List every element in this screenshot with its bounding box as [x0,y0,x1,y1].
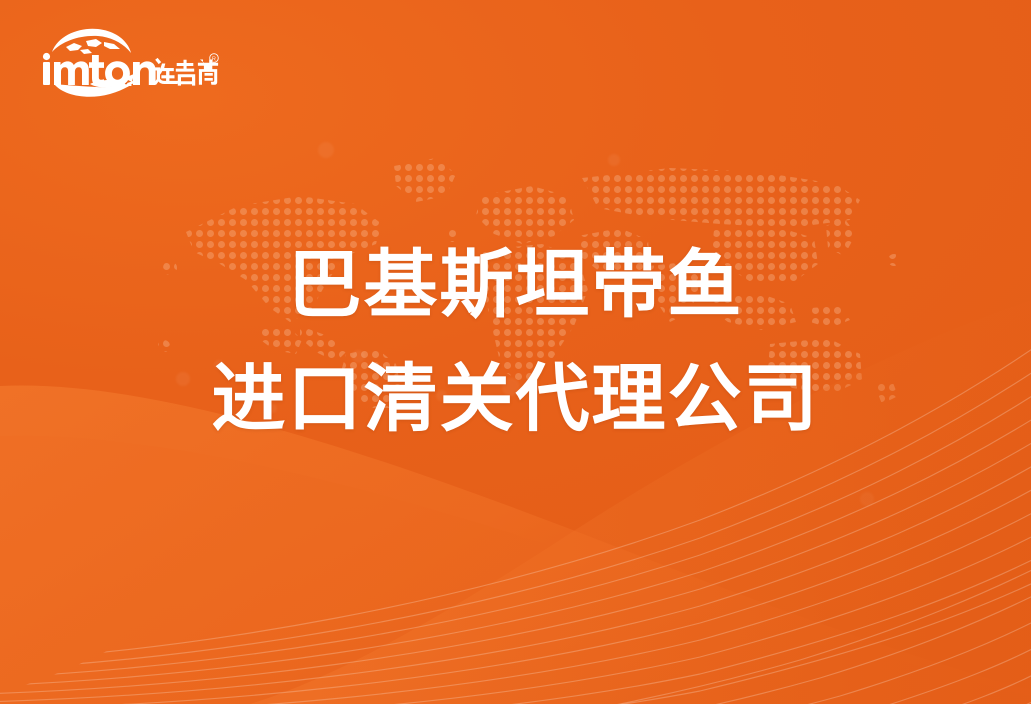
bokeh-dot [608,154,620,166]
bokeh-dot [860,492,874,506]
headline-line-2: 进口清关代理公司 [0,350,1031,448]
bokeh-dot [60,480,72,492]
imton-logo[interactable]: R [40,26,220,102]
headline-line-1: 巴基斯坦带鱼 [0,236,1031,334]
registered-trademark-icon: R [210,54,219,63]
page-title: 巴基斯坦带鱼 进口清关代理公司 [0,236,1031,447]
bokeh-dot [318,142,334,158]
promo-banner: R 巴基斯坦带鱼 进口清关代理公司 [0,0,1031,704]
svg-text:R: R [212,56,216,62]
